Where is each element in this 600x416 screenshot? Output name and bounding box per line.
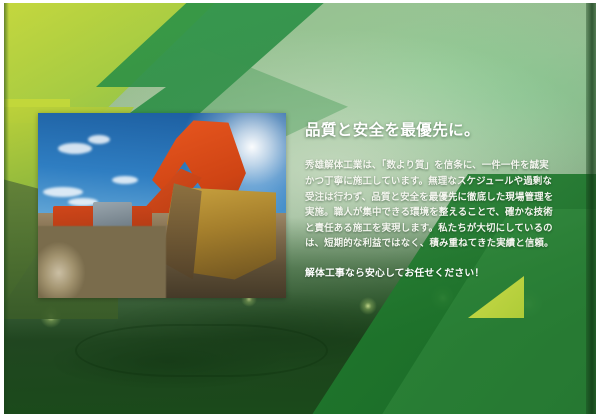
photo-cloud bbox=[58, 143, 92, 154]
photo-cloud bbox=[43, 187, 83, 197]
shape-right-edge-band bbox=[586, 3, 596, 414]
photo-cloud bbox=[88, 135, 110, 144]
page-title: 品質と安全を最優先に。 bbox=[305, 121, 555, 140]
slide-canvas: 品質と安全を最優先に。 秀雄解体工業は、「数より質」を信条に、一件一件を誠実かつ… bbox=[4, 3, 596, 414]
photo-cloud bbox=[112, 176, 138, 184]
slide-root: 品質と安全を最優先に。 秀雄解体工業は、「数より質」を信条に、一件一件を誠実かつ… bbox=[0, 0, 600, 416]
text-column: 品質と安全を最優先に。 秀雄解体工業は、「数より質」を信条に、一件一件を誠実かつ… bbox=[305, 121, 555, 281]
shape-left-edge-band bbox=[4, 3, 9, 414]
excavator-photo bbox=[38, 113, 286, 298]
closing-line: 解体工事なら安心してお任せください！ bbox=[305, 267, 555, 281]
photo-rubble bbox=[38, 226, 166, 298]
body-paragraph: 秀雄解体工業は、「数より質」を信条に、一件一件を誠実かつ丁寧に施工しています。無… bbox=[305, 159, 555, 253]
track-silhouette bbox=[75, 324, 328, 377]
